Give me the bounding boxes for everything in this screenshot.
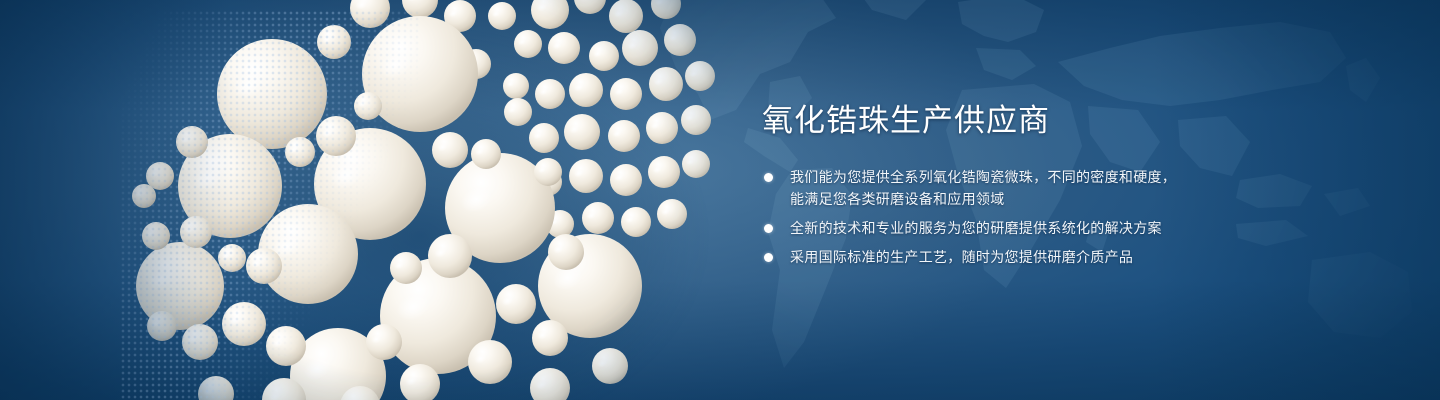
list-item: 全新的技术和专业的服务为您的研磨提供系统化的解决方案 — [762, 217, 1262, 239]
list-item-line: 我们能为您提供全系列氧化锆陶瓷微珠，不同的密度和硬度， — [790, 166, 1262, 188]
hero-banner: 氧化锆珠生产供应商 我们能为您提供全系列氧化锆陶瓷微珠，不同的密度和硬度， 能满… — [0, 0, 1440, 400]
bullet-dot-icon — [764, 253, 773, 262]
list-item-line: 全新的技术和专业的服务为您的研磨提供系统化的解决方案 — [790, 217, 1262, 239]
bullet-dot-icon — [764, 173, 773, 182]
list-item: 采用国际标准的生产工艺，随时为您提供研磨介质产品 — [762, 246, 1262, 268]
page-title: 氧化锆珠生产供应商 — [762, 104, 1262, 138]
list-item: 我们能为您提供全系列氧化锆陶瓷微珠，不同的密度和硬度， 能满足您各类研磨设备和应… — [762, 166, 1262, 210]
banner-copy: 氧化锆珠生产供应商 我们能为您提供全系列氧化锆陶瓷微珠，不同的密度和硬度， 能满… — [762, 104, 1262, 268]
feature-list: 我们能为您提供全系列氧化锆陶瓷微珠，不同的密度和硬度， 能满足您各类研磨设备和应… — [762, 166, 1262, 268]
bullet-dot-icon — [764, 224, 773, 233]
list-item-line: 能满足您各类研磨设备和应用领域 — [790, 188, 1262, 210]
list-item-line: 采用国际标准的生产工艺，随时为您提供研磨介质产品 — [790, 246, 1262, 268]
